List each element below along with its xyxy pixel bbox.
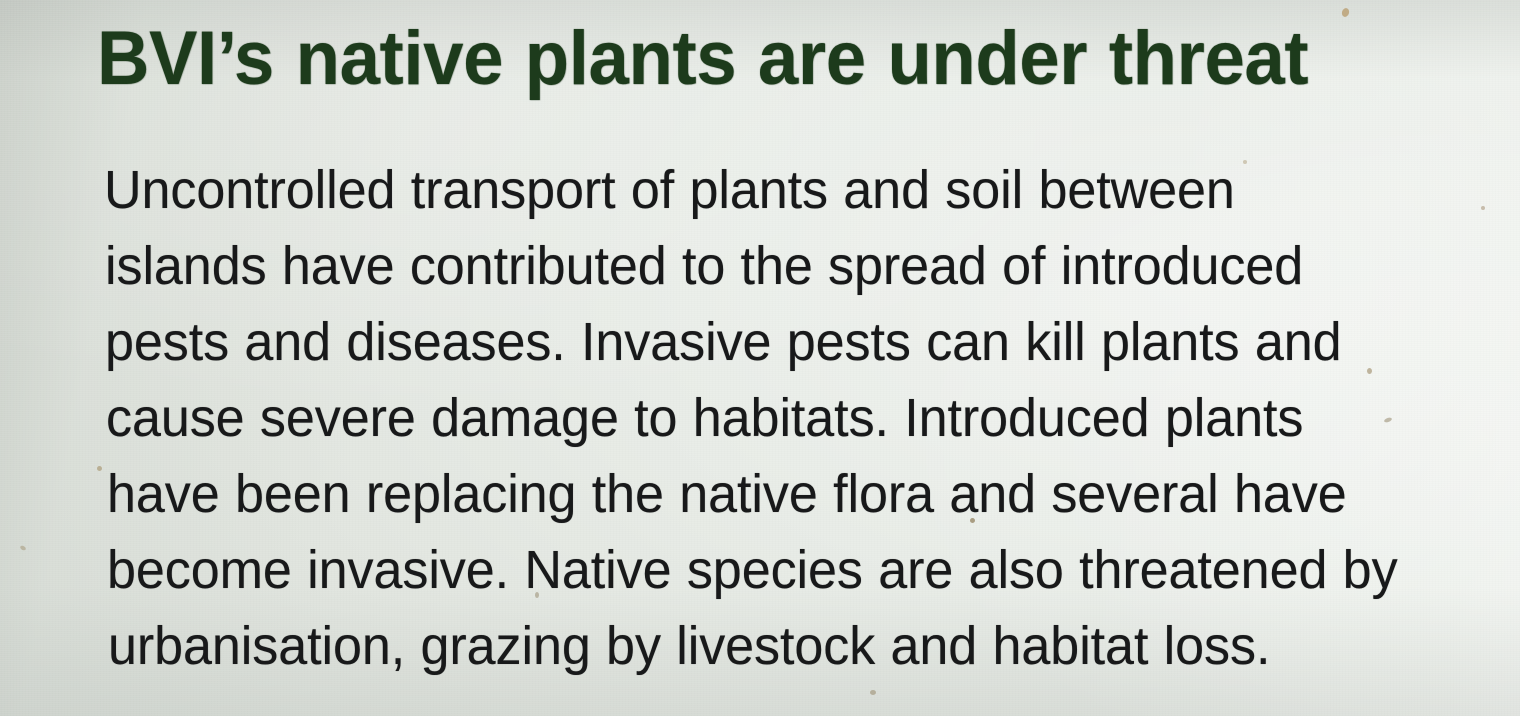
sign-body-line: have been replacing the native flora and… xyxy=(107,456,1397,532)
sign-body-line: pests and diseases. Invasive pests can k… xyxy=(105,304,1397,380)
sign-body-line: cause severe damage to habitats. Introdu… xyxy=(106,380,1397,456)
sign-body-line: Uncontrolled transport of plants and soi… xyxy=(104,152,1397,228)
sign-body-line: become invasive. Native species are also… xyxy=(107,532,1397,608)
sign-body-text: Uncontrolled transport of plants and soi… xyxy=(104,152,1444,684)
sign-content: BVI’s native plants are under threat Unc… xyxy=(0,0,1520,716)
sign-body-line: urbanisation, grazing by livestock and h… xyxy=(108,608,1397,684)
sign-body-line: islands have contributed to the spread o… xyxy=(105,228,1397,304)
interpretive-sign-panel: BVI’s native plants are under threat Unc… xyxy=(0,0,1520,716)
sign-heading: BVI’s native plants are under threat xyxy=(97,16,1434,102)
